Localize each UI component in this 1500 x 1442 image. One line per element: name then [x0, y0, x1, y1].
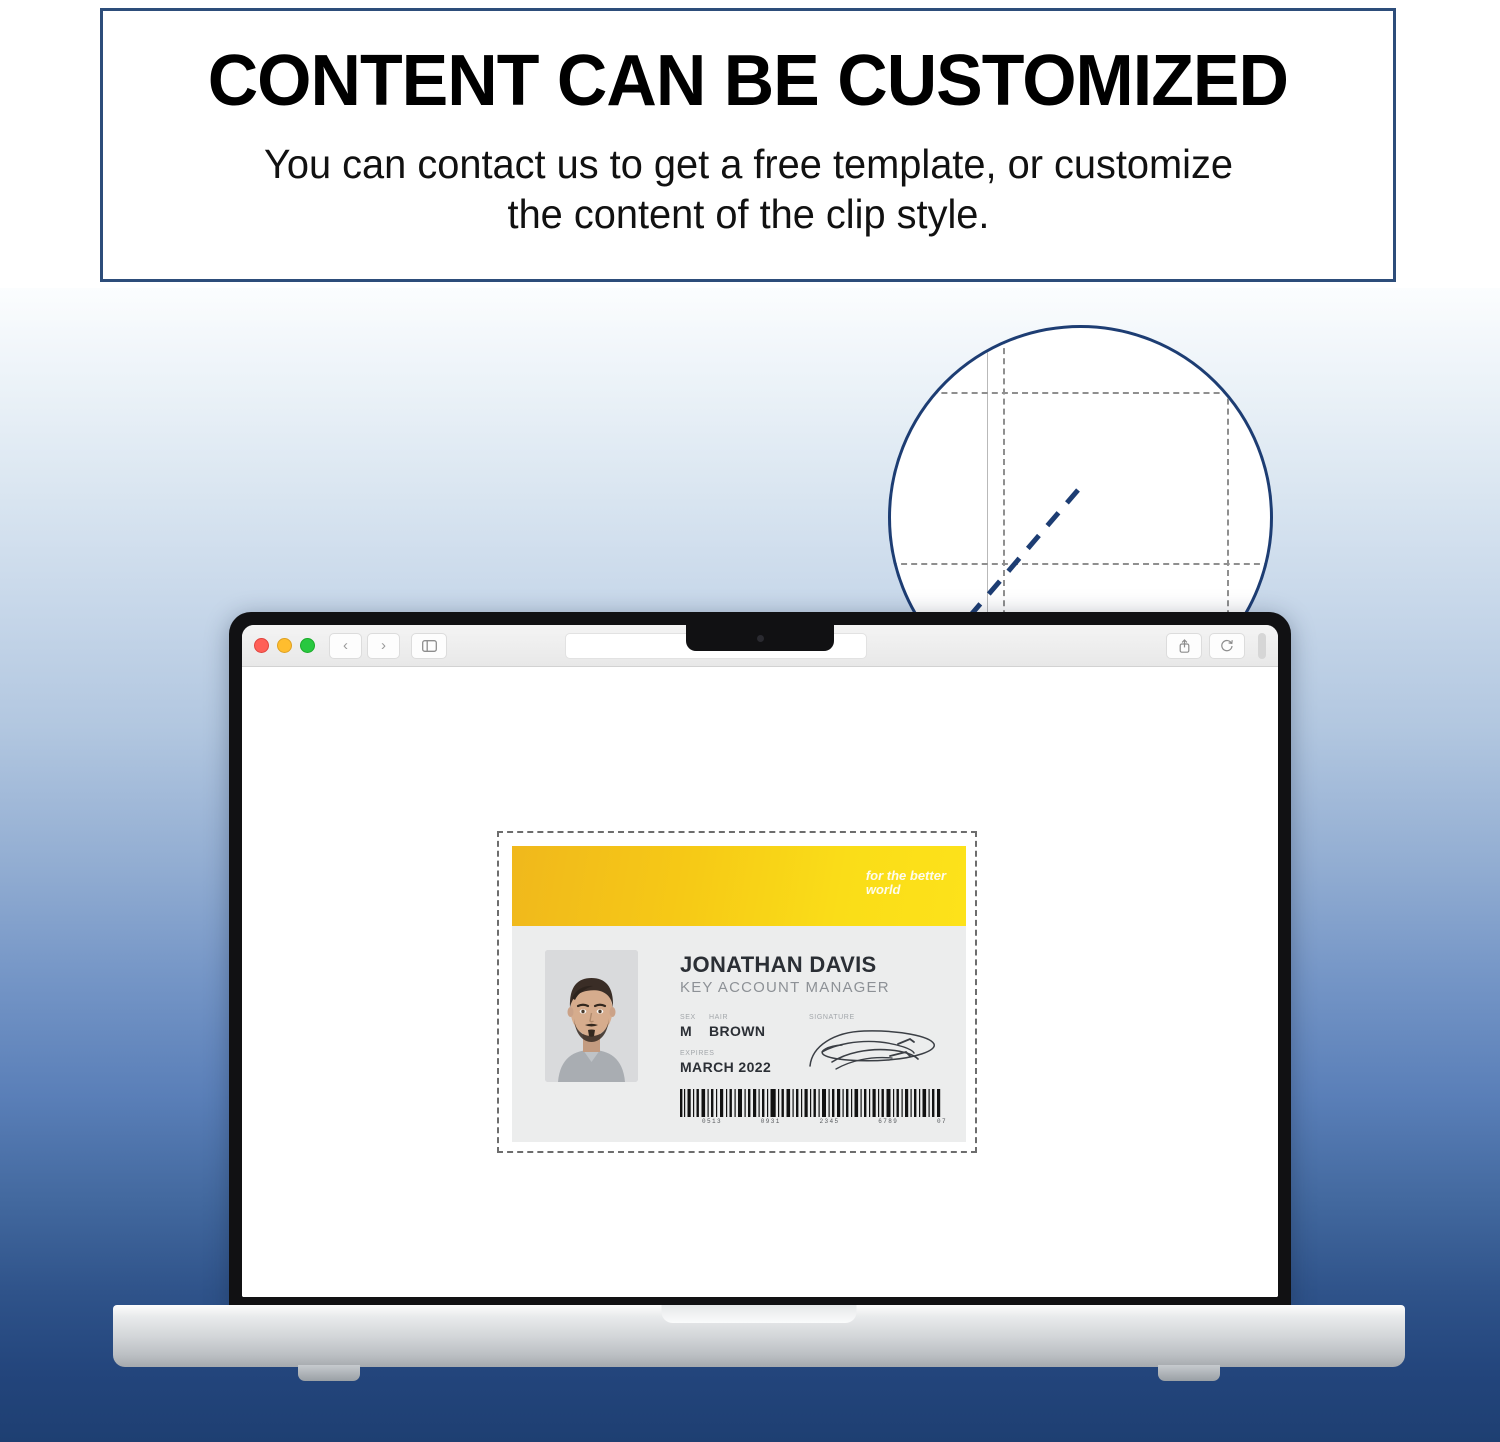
sex-value: M	[680, 1023, 692, 1039]
share-icon	[1178, 639, 1191, 653]
id-card: for the better world	[512, 846, 966, 1142]
brand-tagline: for the better world	[866, 869, 946, 896]
brand-tagline-line-2: world	[866, 883, 946, 897]
chevron-right-icon: ›	[381, 638, 386, 653]
cardholder-name: JONATHAN DAVIS	[680, 952, 877, 978]
sidebar-toggle-icon	[422, 640, 437, 652]
magnifier-guide-horizontal-top	[891, 392, 1270, 394]
barcode-group-2: 2345	[819, 1118, 839, 1125]
hair-value: BROWN	[709, 1023, 765, 1039]
share-button[interactable]	[1166, 633, 1202, 659]
sidebar-toggle-button[interactable]	[411, 633, 447, 659]
header-banner: CONTENT CAN BE CUSTOMIZED You can contac…	[100, 8, 1396, 282]
brand-tagline-line-1: for the better	[866, 869, 946, 883]
laptop-base-notch	[662, 1305, 857, 1323]
avatar	[545, 950, 638, 1082]
page-subtitle: You can contact us to get a free templat…	[263, 139, 1232, 239]
id-card-banner: for the better world	[512, 846, 966, 926]
sex-label: SEX	[680, 1014, 696, 1021]
barcode-number: 0513 0931 2345 6789 07	[702, 1118, 947, 1125]
forward-button[interactable]: ›	[367, 633, 400, 659]
id-card-body: JONATHAN DAVIS KEY ACCOUNT MANAGER SEX M…	[512, 926, 966, 1142]
signature-icon	[802, 1022, 942, 1084]
window-controls	[254, 638, 315, 653]
display-notch	[686, 625, 834, 651]
browser-right-tools	[1166, 633, 1266, 659]
portrait-photo-icon	[545, 950, 638, 1082]
page-subtitle-line-1: You can contact us to get a free templat…	[263, 139, 1232, 189]
laptop-foot-left	[298, 1365, 360, 1381]
camera-icon	[757, 635, 764, 642]
magnifier-guide-horizontal-bottom	[891, 563, 1270, 565]
back-button[interactable]: ‹	[329, 633, 362, 659]
laptop-foot-right	[1158, 1365, 1220, 1381]
hair-label: HAIR	[709, 1014, 728, 1021]
barcode-icon	[680, 1089, 942, 1117]
reload-button[interactable]	[1209, 633, 1245, 659]
barcode-group-1: 0931	[761, 1118, 781, 1125]
barcode-group-3: 6789	[878, 1118, 898, 1125]
signature-label: SIGNATURE	[809, 1014, 855, 1021]
close-button[interactable]	[254, 638, 269, 653]
reload-icon	[1220, 639, 1234, 653]
page-title: CONTENT CAN BE CUSTOMIZED	[208, 45, 1288, 117]
barcode-group-4: 07	[937, 1118, 947, 1125]
scrollbar-thumb[interactable]	[1258, 633, 1266, 659]
page-subtitle-line-2: the content of the clip style.	[263, 189, 1232, 239]
minimize-button[interactable]	[277, 638, 292, 653]
laptop-base	[113, 1305, 1405, 1367]
maximize-button[interactable]	[300, 638, 315, 653]
barcode-group-0: 0513	[702, 1118, 722, 1125]
expires-value: MARCH 2022	[680, 1059, 771, 1075]
chevron-left-icon: ‹	[343, 638, 348, 653]
id-card-crop-marks[interactable]: for the better world	[497, 831, 977, 1153]
expires-label: EXPIRES	[680, 1050, 715, 1057]
cardholder-role: KEY ACCOUNT MANAGER	[680, 979, 890, 996]
